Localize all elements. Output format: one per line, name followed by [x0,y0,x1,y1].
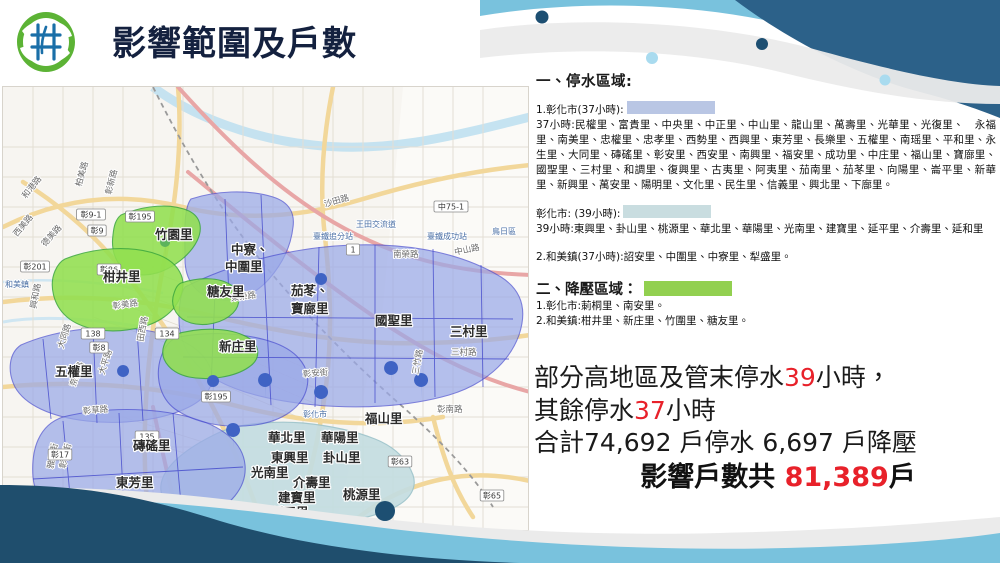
summary-total-row: 影響戶數共 81,389戶 [534,460,1000,495]
changhua-37h-row: 1.彰化市(37小時): [536,101,996,118]
map-village-label-39h: 光南里 [250,465,289,480]
map-station-label: 彰化市 [303,409,327,419]
taiwan-water-corporation-logo [12,9,80,75]
map-village-label-pressure: 竹園里 [154,227,193,242]
map-village-label-39h: 延和里 [232,527,271,531]
changhua-water-outage-map[interactable]: 和港路西美路德美路彰美路興和路大同路大平路奈田路彰草路彰南街雅風街民主街昭山街彰… [2,86,529,531]
map-route-shield-label: 彰65 [483,491,501,501]
map-village-label-37h: 磚磘里 [133,438,171,453]
map-station-label: 臺鐵成功站 [427,231,467,241]
summary-line-1: 部分高地區及管末停水39小時， [534,362,1000,395]
map-route-shield-label: 彰195 [204,392,227,402]
map-route-shield-label: 彰9-1 [80,210,101,220]
map-village-label-39h: 華北里 [268,430,306,445]
map-route-shield-label: 彰63 [391,457,409,467]
changhua-39h-villages: 39小時:東興里、卦山里、桃源里、華北里、華陽里、光南里、建寶里、延平里、介壽里… [536,222,996,237]
map-station-label: 王田交流道 [356,219,396,229]
changhua-39h-label: 彰化市: (39小時): [536,208,620,220]
map-road-label: 南榮路 [393,249,419,260]
map-village-label-39h: 桃源里 [343,487,381,502]
pressure-changhua: 1.彰化市:莿桐里、南安里。 [536,299,996,314]
changhua-37h-label: 1.彰化市(37小時): [536,104,624,116]
summary-hours-37: 37 [634,396,666,425]
swatch-pressure-reduction [644,281,732,296]
summary-total-prefix: 影響戶數共 [640,462,784,493]
map-route-shield-label: 彰201 [23,262,46,272]
map-village-label-37h: 三村里 [450,324,488,339]
map-village-label-39h: 介壽里 [292,475,331,490]
map-station-label: 和美鎮 [5,279,29,289]
presentation-slide: 影響範圍及戶數 [0,0,1000,563]
map-route-shield-label: 彰23 [13,513,31,523]
deco-dot [646,52,658,64]
map-route-shield-label: 134 [159,330,174,339]
map-village-label-pressure: 柑井里 [103,269,141,284]
slide-header: 影響範圍及戶數 [0,0,540,82]
map-village-label-37h: 五權里 [55,364,93,379]
summary-total-suffix: 戶 [889,462,916,493]
map-route-shield-label: 138 [85,330,100,339]
map-route-shield-label: 彰195 [128,212,151,222]
impact-summary: 部分高地區及管末停水39小時， 其餘停水37小時 合計74,692 戶停水 6,… [534,362,1000,495]
summary-line-2-prefix: 其餘停水 [534,396,634,425]
map-route-shield-label: 1 [350,246,355,255]
map-village-label-39h: 建寶里 [278,490,316,505]
map-village-label-39h: 華陽里 [321,430,359,445]
deco-dot [756,38,768,50]
page-title: 影響範圍及戶數 [112,16,357,65]
map-road-label: 三村路 [451,347,477,358]
map-village-label-37h: 中圍里 [225,259,263,274]
map-village-label-39h: 東興里 [271,450,309,465]
outage-details-panel: 一、停水區域: 1.彰化市(37小時): 37小時:民權里、富貴里、中央里、中正… [536,70,996,329]
summary-total-households: 81,389 [785,462,889,493]
map-village-label-pressure: 糖友里 [207,284,245,299]
summary-line-3: 合計74,692 戶停水 6,697 戶降壓 [534,427,1000,460]
map-village-label-pressure: 南安、莿桐里 [88,527,164,531]
map-village-label-37h: 東芳里 [116,475,154,490]
section-2-heading: 二、降壓區域： [536,278,638,299]
map-route-shield-label: 中75-1 [438,202,464,212]
map-village-label-37h: 寶廍里 [291,301,329,316]
map-road-label: 彰草路 [82,404,109,417]
map-route-shield-label: 彰8 [92,343,105,353]
summary-line-1-prefix: 部分高地區及管末停水 [534,363,784,392]
map-village-label-39h: 延平里 [270,505,309,520]
section-1-heading: 一、停水區域: [536,70,996,91]
hemei-37h-villages: 2.和美鎮(37小時):詔安里、中圍里、中寮里、犁盛里。 [536,250,996,265]
changhua-39h-row: 彰化市: (39小時): [536,205,996,222]
map-road-label: 彰南路 [437,404,463,415]
map-road-label: 彰安街 [302,367,329,380]
summary-line-2-suffix: 小時 [666,396,716,425]
section-2-heading-row: 二、降壓區域： [536,278,996,299]
swatch-37-hour [627,101,715,114]
summary-hours-39: 39 [784,363,816,392]
map-village-label-39h: 卦山里 [323,450,361,465]
summary-line-1-suffix: 小時， [816,363,891,392]
map-station-label: 臺鐵追分站 [313,231,353,241]
map-village-label-37h: 福山里 [364,411,403,426]
map-station-label: 鳥日區 [492,226,516,236]
pressure-hemei: 2.和美鎮:柑井里、新庄里、竹圍里、糖友里。 [536,314,996,329]
map-village-label-37h: 茄苳、 [290,283,329,298]
summary-line-2: 其餘停水37小時 [534,395,1000,428]
map-village-label-pressure: 新庄里 [219,339,257,354]
map-route-shield-label: 彰9 [90,226,103,236]
changhua-37h-villages: 37小時:民權里、富貴里、中央里、中正里、中山里、龍山里、萬壽里、光華里、光復里… [536,118,996,193]
map-route-shield-label: 彰17 [51,450,69,460]
swatch-39-hour [623,205,711,218]
map-village-label-37h: 國聖里 [375,313,413,328]
map-village-label-37h: 中寮、 [231,242,269,257]
